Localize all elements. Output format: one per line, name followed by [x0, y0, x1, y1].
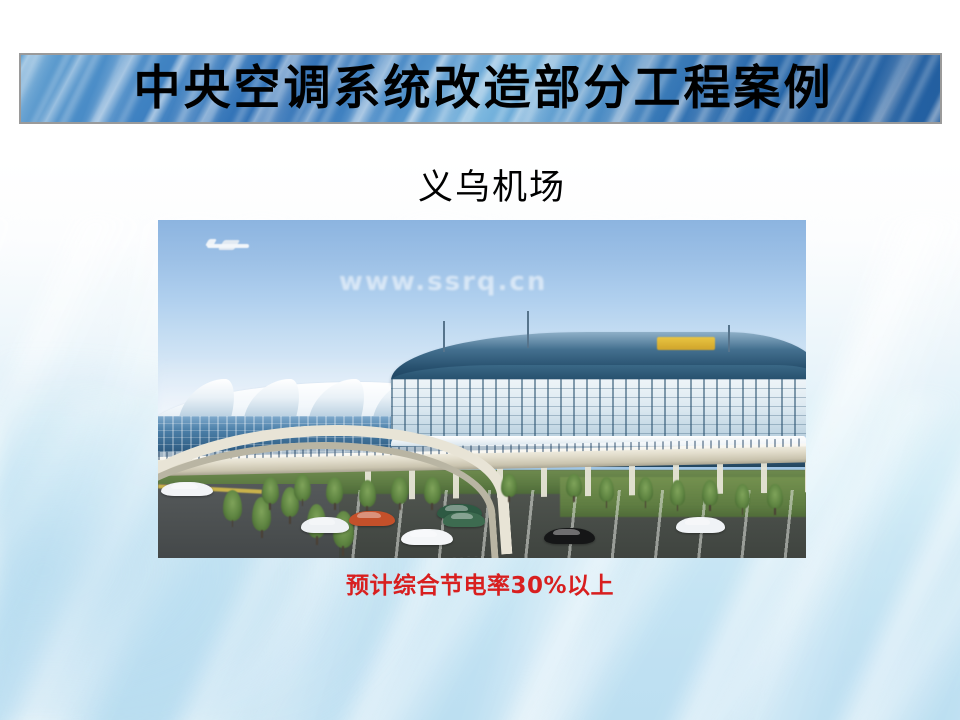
slide-subtitle: 义乌机场 [0, 168, 960, 208]
antenna-mast [527, 311, 529, 348]
tree [702, 480, 718, 505]
antenna-mast [443, 321, 445, 351]
car-green-second [443, 512, 485, 526]
page-title: 中央空调系统改造部分工程案例 [128, 65, 834, 112]
car-white [676, 517, 725, 532]
energy-saving-caption: 预计综合节电率30%以上 [0, 572, 960, 600]
slide-title-banner: 中央空调系统改造部分工程案例 [19, 53, 942, 124]
tree [638, 477, 654, 502]
tree [566, 474, 582, 498]
tree [262, 477, 279, 504]
car-white [401, 529, 453, 545]
car-white [301, 517, 350, 532]
photo-watermark-top: www.ssrq.cn [339, 267, 547, 297]
car-black [544, 528, 596, 544]
terminal-main-glass-facade [391, 379, 806, 436]
presentation-slide: 中央空调系统改造部分工程案例 义乌机场 www.ssrq.cn [0, 0, 960, 720]
car-red [349, 511, 394, 526]
tree [223, 490, 242, 520]
antenna-mast [728, 325, 730, 352]
airport-photo-content: www.ssrq.cn ww [158, 220, 806, 558]
tree [359, 480, 376, 507]
tree [599, 477, 615, 502]
tree [501, 474, 517, 498]
terminal-logo-sign [657, 337, 715, 351]
tree [767, 484, 783, 509]
subtitle-text: 义乌机场 [394, 168, 566, 208]
car-white [161, 482, 213, 496]
airport-photo: www.ssrq.cn ww [158, 220, 806, 558]
airplane-icon [207, 239, 249, 252]
tree [424, 477, 441, 504]
